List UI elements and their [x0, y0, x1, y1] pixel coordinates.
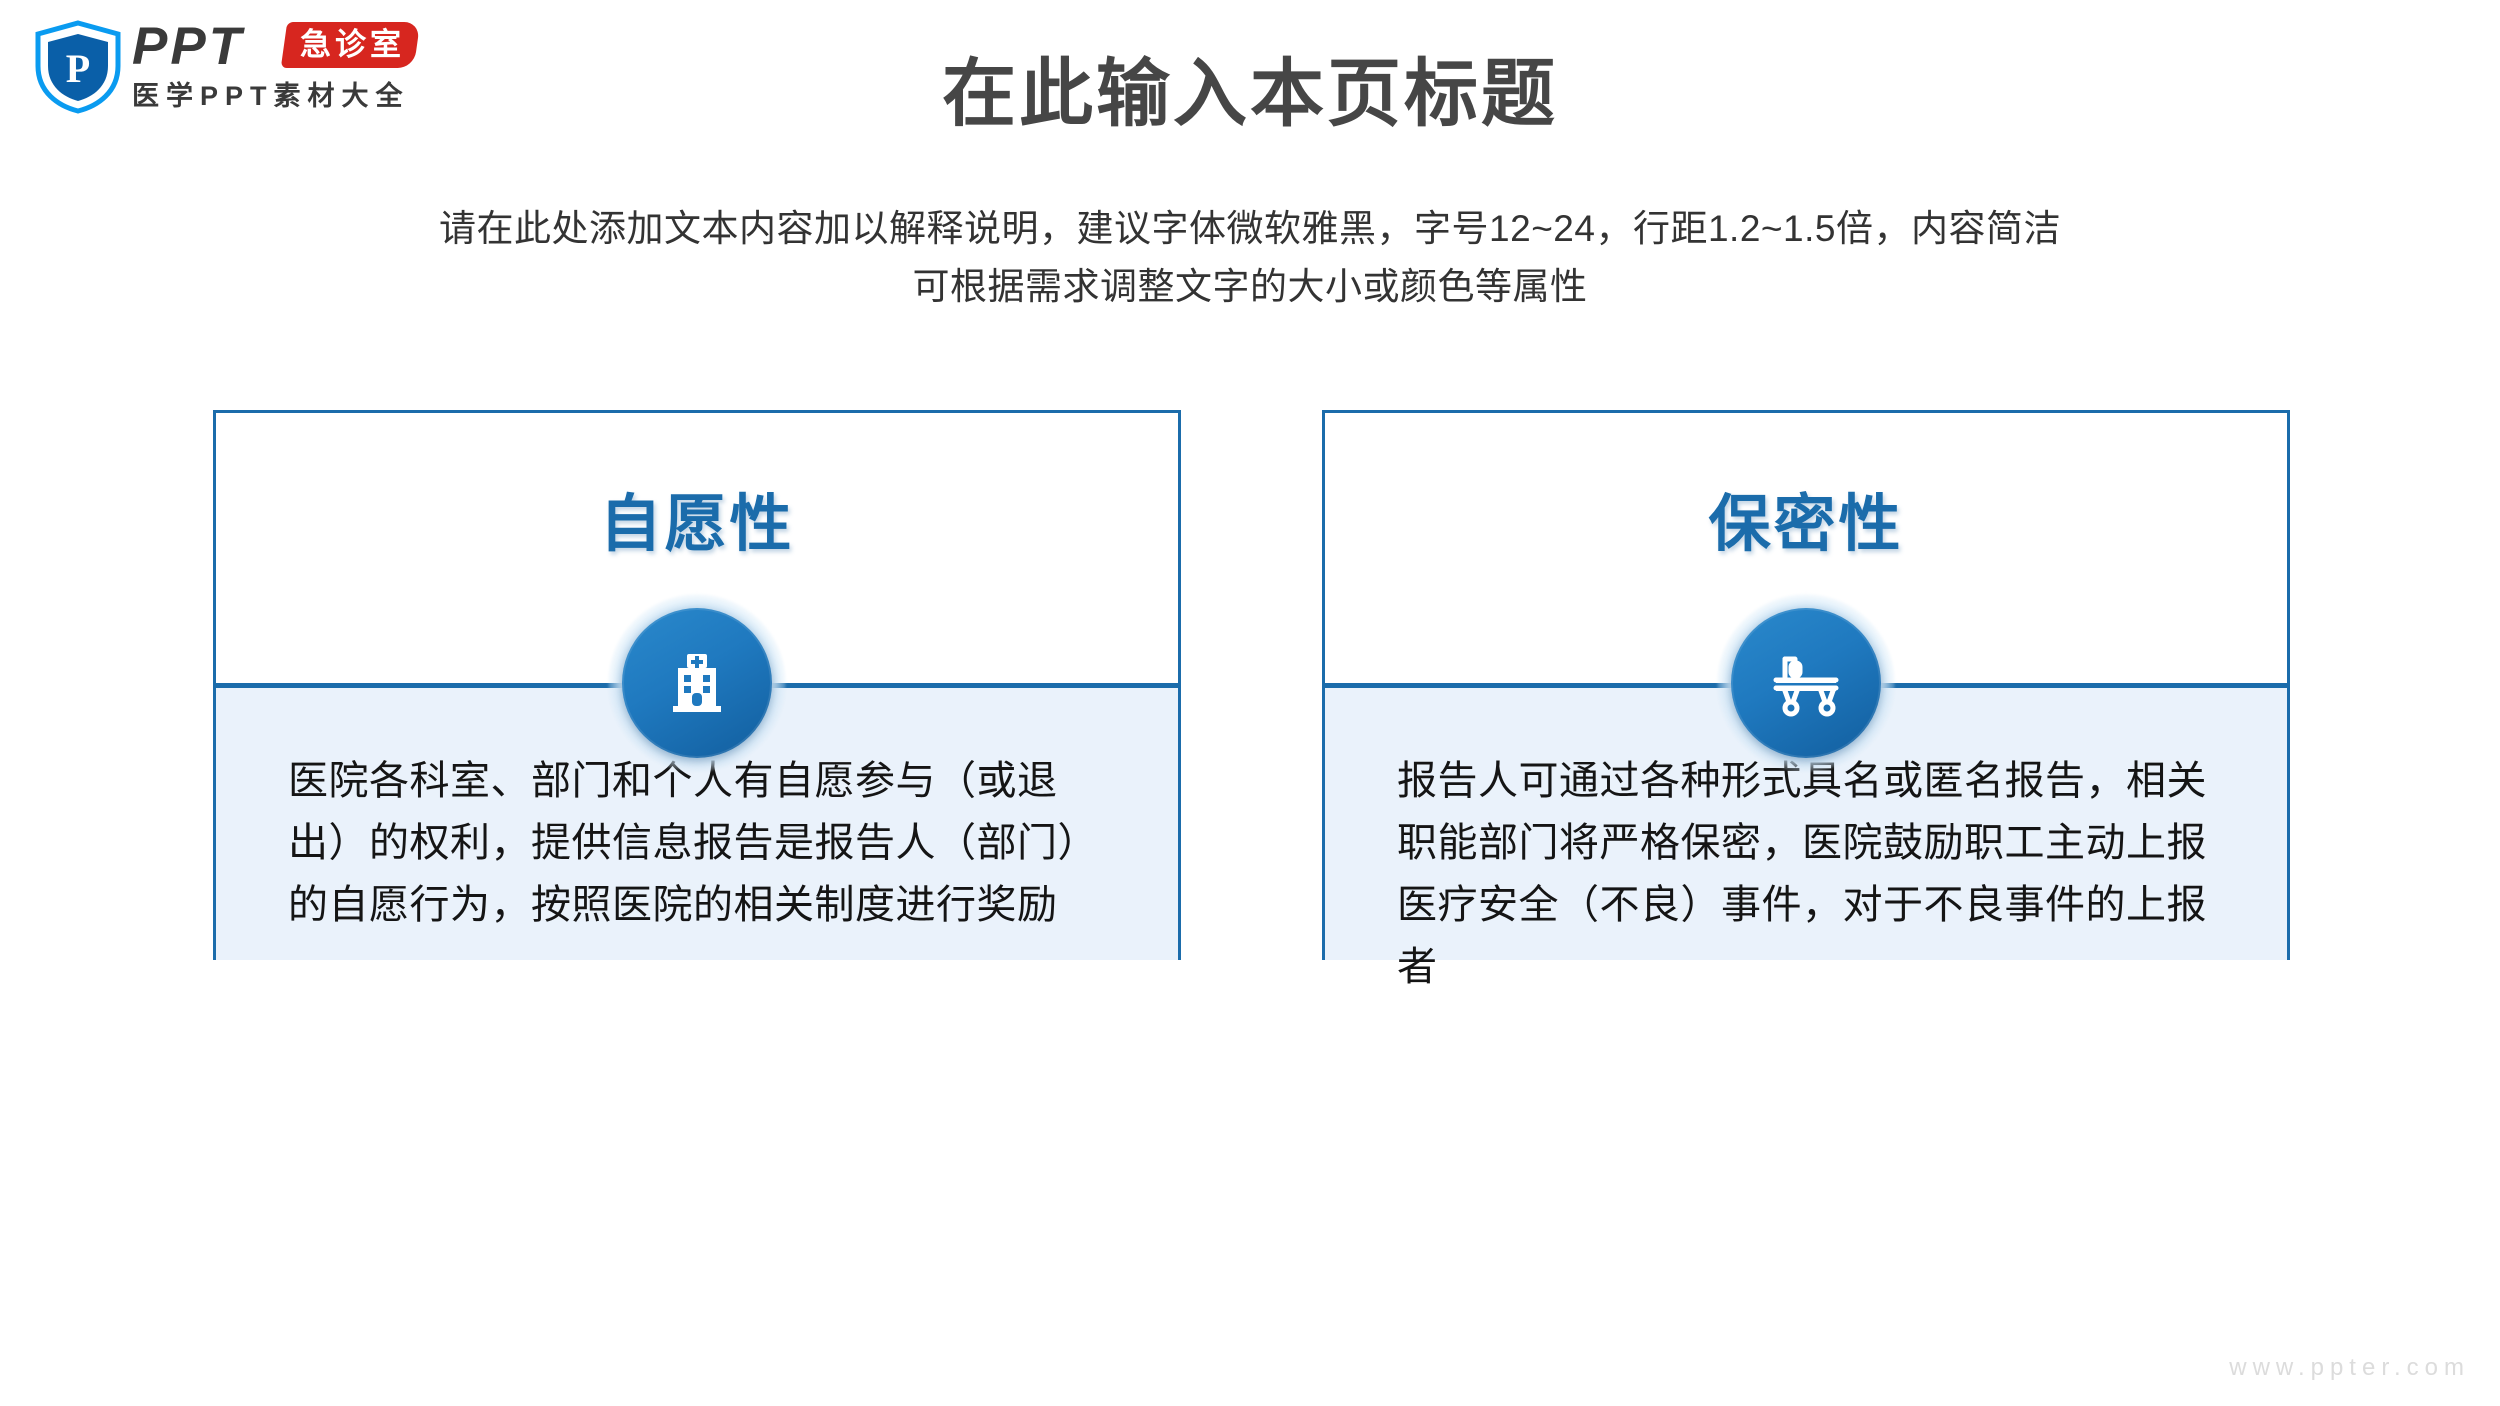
card-icon-badge: [1731, 608, 1881, 758]
icon-circle: [1731, 608, 1881, 758]
card-body-text: 医院各科室、部门和个人有自愿参与（或退出）的权利，提供信息报告是报告人（部门）的…: [288, 750, 1108, 936]
card-confidentiality[interactable]: 保密性 报告人可通过各种形式具名或匿名报告，相关职能部门将严格保密，医院鼓励职工…: [1322, 410, 2290, 960]
hospital-building-icon: [660, 646, 734, 720]
card-voluntariness[interactable]: 自愿性 医院各科室、部门和个人有自愿参与（或退出）的权利，提供信息报告是报告人（…: [213, 410, 1181, 960]
icon-circle: [622, 608, 772, 758]
card-title: 自愿性: [216, 473, 1178, 563]
slide-canvas: P PPT 急诊室 医学PPT素材大全 在此输入本页标题 请在此处添加文本内容加…: [0, 0, 2500, 1406]
footer-watermark: www.ppter.com: [2229, 1354, 2470, 1382]
card-row: 自愿性 医院各科室、部门和个人有自愿参与（或退出）的权利，提供信息报告是报告人（…: [0, 410, 2500, 970]
card-title: 保密性: [1325, 473, 2287, 563]
subtitle-line-1: 请在此处添加文本内容加以解释说明，建议字体微软雅黑，字号12~24，行距1.2~…: [0, 200, 2500, 258]
card-icon-badge: [622, 608, 772, 758]
subtitle-line-2: 可根据需求调整文字的大小或颜色等属性: [0, 258, 2500, 316]
card-body-text: 报告人可通过各种形式具名或匿名报告，相关职能部门将严格保密，医院鼓励职工主动上报…: [1397, 750, 2217, 998]
page-title: 在此输入本页标题: [0, 34, 2500, 141]
stretcher-icon: [1767, 646, 1845, 720]
page-subtitle: 请在此处添加文本内容加以解释说明，建议字体微软雅黑，字号12~24，行距1.2~…: [0, 200, 2500, 316]
